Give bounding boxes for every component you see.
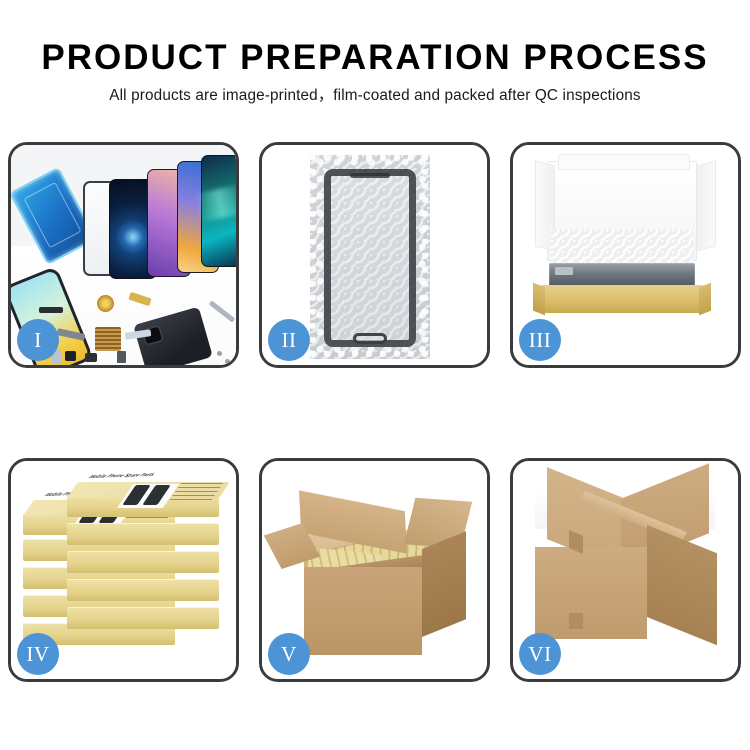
header: PRODUCT PREPARATION PROCESS All products… xyxy=(0,36,750,106)
part-sim-tray xyxy=(117,351,126,363)
part-screw-2 xyxy=(225,359,230,364)
stacked-box xyxy=(67,579,219,601)
inner-box-base xyxy=(541,285,703,313)
carton-front-face xyxy=(535,547,647,639)
carton-seam-lower xyxy=(569,613,583,629)
stacked-box-labeled: Mobile Phone Spare Parts xyxy=(67,495,219,517)
open-shipping-carton xyxy=(280,489,470,665)
step-panel-4: Mobile Phone Spare Parts Mobile Phone Sp xyxy=(8,458,239,682)
page-title: PRODUCT PREPARATION PROCESS xyxy=(0,36,750,80)
part-camera-module xyxy=(65,351,76,361)
step-badge-5: V xyxy=(268,633,310,675)
stacked-box xyxy=(67,551,219,573)
home-button-cutout xyxy=(353,333,387,344)
product-preparation-infographic: PRODUCT PREPARATION PROCESS All products… xyxy=(0,0,750,750)
part-screw-1 xyxy=(217,351,222,356)
step-badge-1: I xyxy=(17,319,59,361)
step-badge-2: II xyxy=(268,319,310,361)
step-panel-6: VI xyxy=(510,458,741,682)
part-connector-bar xyxy=(39,307,63,313)
step-panel-2: II xyxy=(259,142,490,368)
step-panel-5: V xyxy=(259,458,490,682)
carton-front-face xyxy=(304,567,422,655)
part-copper-coil xyxy=(97,295,114,312)
bubble-wrap-sheet xyxy=(310,155,430,359)
carton-side-face xyxy=(647,525,717,645)
step-panel-3: III xyxy=(510,142,741,368)
step-panel-1: I xyxy=(8,142,239,368)
sealed-shipping-carton xyxy=(525,487,725,659)
step-badge-3: III xyxy=(519,319,561,361)
part-chip-array xyxy=(95,327,121,351)
box-label-text: Mobile Phone Spare Parts xyxy=(87,470,219,479)
step-badge-4: IV xyxy=(17,633,59,675)
inner-box-right-flap xyxy=(696,161,716,252)
stacked-box xyxy=(67,607,219,629)
step-badge-6: VI xyxy=(519,633,561,675)
part-camera-module-2 xyxy=(85,353,97,362)
steps-grid: I II III xyxy=(8,142,742,682)
earpiece-slot xyxy=(350,173,390,178)
wrapped-phone-screen xyxy=(324,169,416,347)
phone-screen-teal-wallpaper xyxy=(201,155,236,267)
page-subtitle: All products are image-printed，film-coat… xyxy=(0,86,750,106)
carton-side-face xyxy=(422,531,466,637)
stacked-box xyxy=(67,523,219,545)
